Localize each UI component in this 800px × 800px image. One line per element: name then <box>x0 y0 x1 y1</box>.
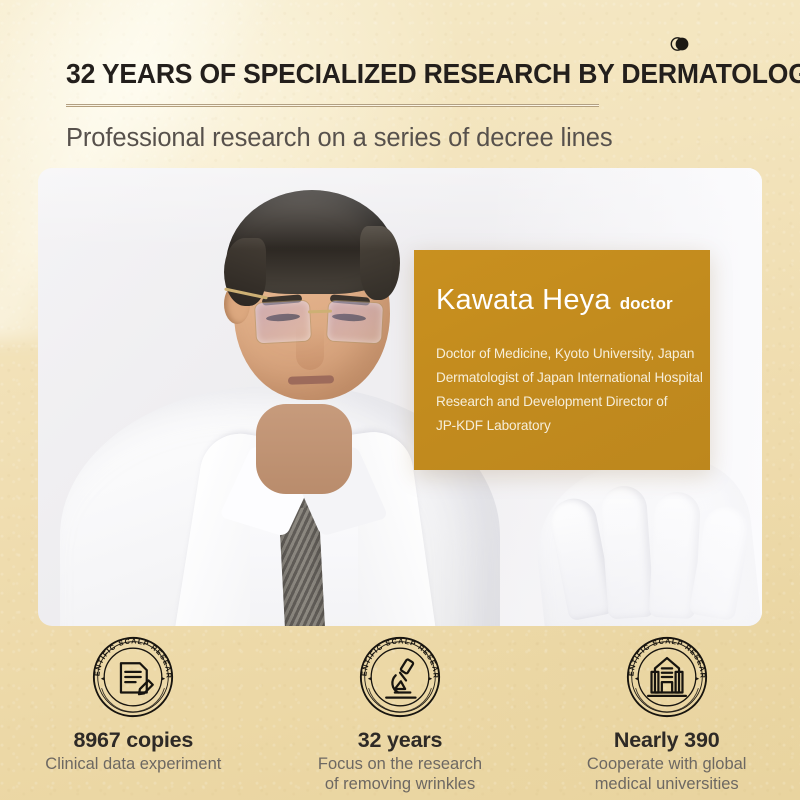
glove-finger <box>599 485 654 620</box>
hair-temple <box>360 226 400 300</box>
doctor-title: doctor <box>620 294 673 314</box>
doctor-name-row: Kawata Heya doctor <box>436 284 673 317</box>
stat-item-years: SCIENTIFIC SCALP RESEARCH 32 years Focus… <box>267 634 534 800</box>
title-divider <box>66 104 599 108</box>
stat-caption: Cooperate with global medical universiti… <box>587 754 747 794</box>
stat-value: Nearly 390 <box>614 728 720 753</box>
doctor-info-card: Kawata Heya doctor Doctor of Medicine, K… <box>414 250 710 470</box>
credential-line: Dermatologist of Japan International Hos… <box>436 366 698 390</box>
credential-line: Research and Development Director of <box>436 390 698 414</box>
promo-page: 32 YEARS OF SPECIALIZED RESEARCH BY DERM… <box>0 0 800 800</box>
stat-caption: Focus on the research of removing wrinkl… <box>318 754 482 794</box>
university-building-icon: SCIENTIFIC SCALP RESEARCH <box>624 634 710 720</box>
eyeglass-lens-left <box>255 301 311 344</box>
eyeglass-lens-right <box>327 301 383 344</box>
microscope-icon: SCIENTIFIC SCALP RESEARCH <box>357 634 443 720</box>
stat-item-clinical-data: SCIENTIFIC SCALP RESEARCH 8967 copies Cl… <box>0 634 267 800</box>
doctor-credentials: Doctor of Medicine, Kyoto University, Ja… <box>436 342 698 438</box>
page-title: 32 YEARS OF SPECIALIZED RESEARCH BY DERM… <box>66 58 742 90</box>
doctor-name: Kawata Heya <box>436 284 611 317</box>
contrast-circle-icon[interactable] <box>670 37 690 51</box>
neck <box>256 404 352 494</box>
stat-value: 8967 copies <box>73 728 193 753</box>
document-pencil-icon: SCIENTIFIC SCALP RESEARCH <box>90 634 176 720</box>
stat-item-universities: SCIENTIFIC SCALP RESEARCH Nearly 390 Coo… <box>533 634 800 800</box>
stat-caption: Clinical data experiment <box>45 754 221 774</box>
stat-value: 32 years <box>358 728 442 753</box>
mouth <box>288 375 334 385</box>
stats-row: SCIENTIFIC SCALP RESEARCH 8967 copies Cl… <box>0 634 800 800</box>
page-subtitle: Professional research on a series of dec… <box>66 124 766 153</box>
credential-line: JP-KDF Laboratory <box>436 414 698 438</box>
credential-line: Doctor of Medicine, Kyoto University, Ja… <box>436 342 698 366</box>
